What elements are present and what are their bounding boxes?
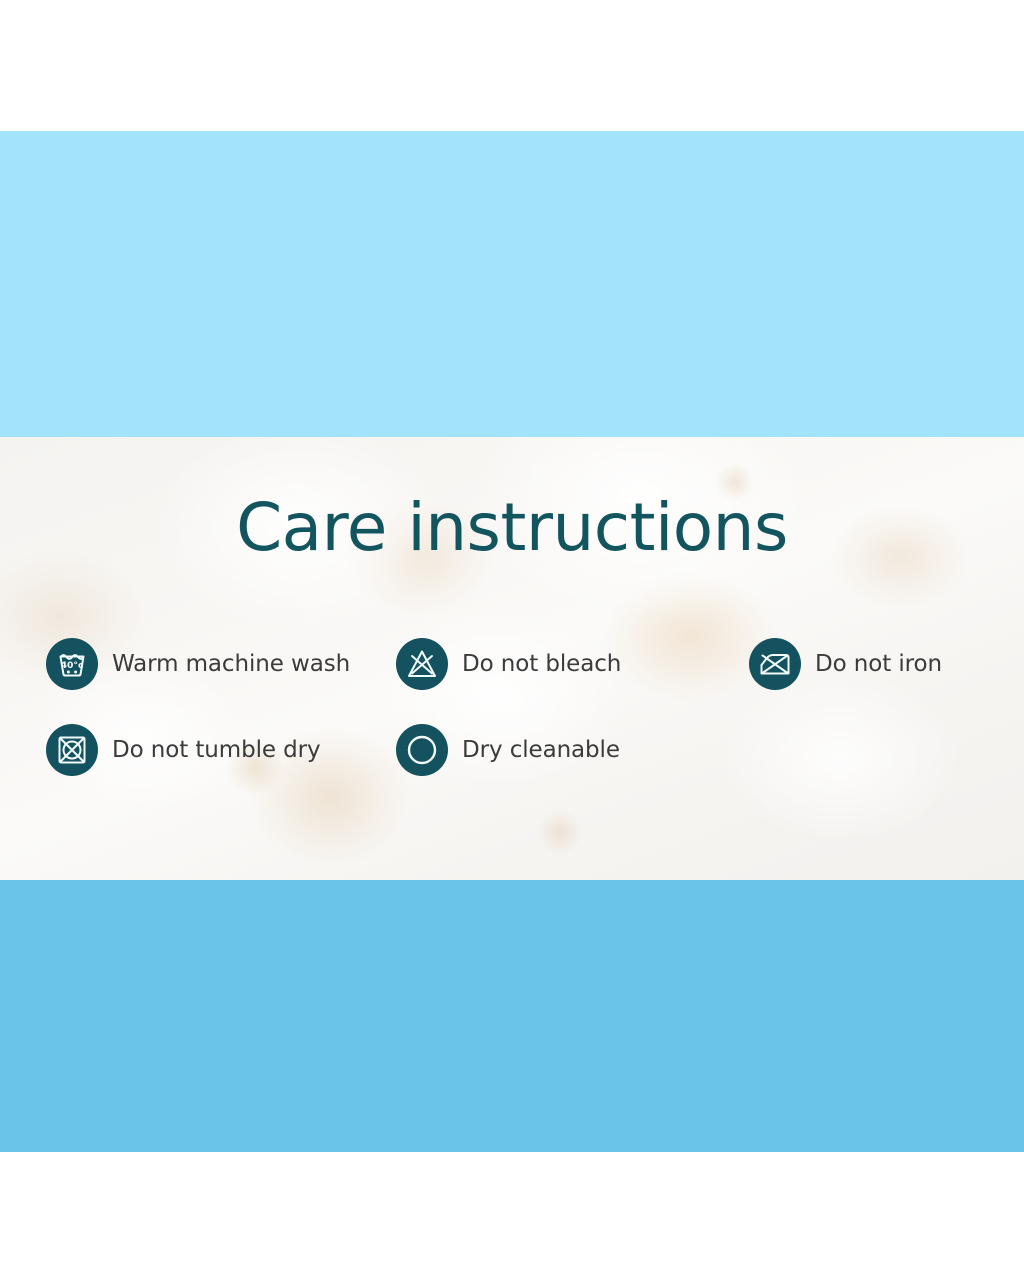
care-item-warm-machine-wash[interactable]: 40°c Warm machine wash bbox=[46, 638, 350, 690]
dry-cleanable-icon bbox=[396, 724, 448, 776]
care-instructions-page: Care instructions 40°c Warm machine wash bbox=[0, 0, 1024, 1280]
care-item-do-not-tumble-dry[interactable]: Do not tumble dry bbox=[46, 724, 321, 776]
care-item-label: Do not tumble dry bbox=[112, 737, 321, 763]
care-item-label: Dry cleanable bbox=[462, 737, 620, 763]
warm-machine-wash-icon: 40°c bbox=[46, 638, 98, 690]
svg-text:40°c: 40°c bbox=[61, 660, 84, 671]
do-not-iron-icon bbox=[749, 638, 801, 690]
care-instructions-list: 40°c Warm machine wash Do not bleach bbox=[46, 638, 996, 828]
do-not-tumble-dry-icon bbox=[46, 724, 98, 776]
do-not-bleach-icon bbox=[396, 638, 448, 690]
care-item-do-not-iron[interactable]: Do not iron bbox=[749, 638, 942, 690]
care-item-do-not-bleach[interactable]: Do not bleach bbox=[396, 638, 621, 690]
top-blue-band bbox=[0, 131, 1024, 437]
care-item-label: Warm machine wash bbox=[112, 651, 350, 677]
care-item-dry-cleanable[interactable]: Dry cleanable bbox=[396, 724, 620, 776]
bottom-blue-band bbox=[0, 880, 1024, 1152]
care-item-label: Do not bleach bbox=[462, 651, 621, 677]
page-title: Care instructions bbox=[0, 495, 1024, 561]
care-item-label: Do not iron bbox=[815, 651, 942, 677]
